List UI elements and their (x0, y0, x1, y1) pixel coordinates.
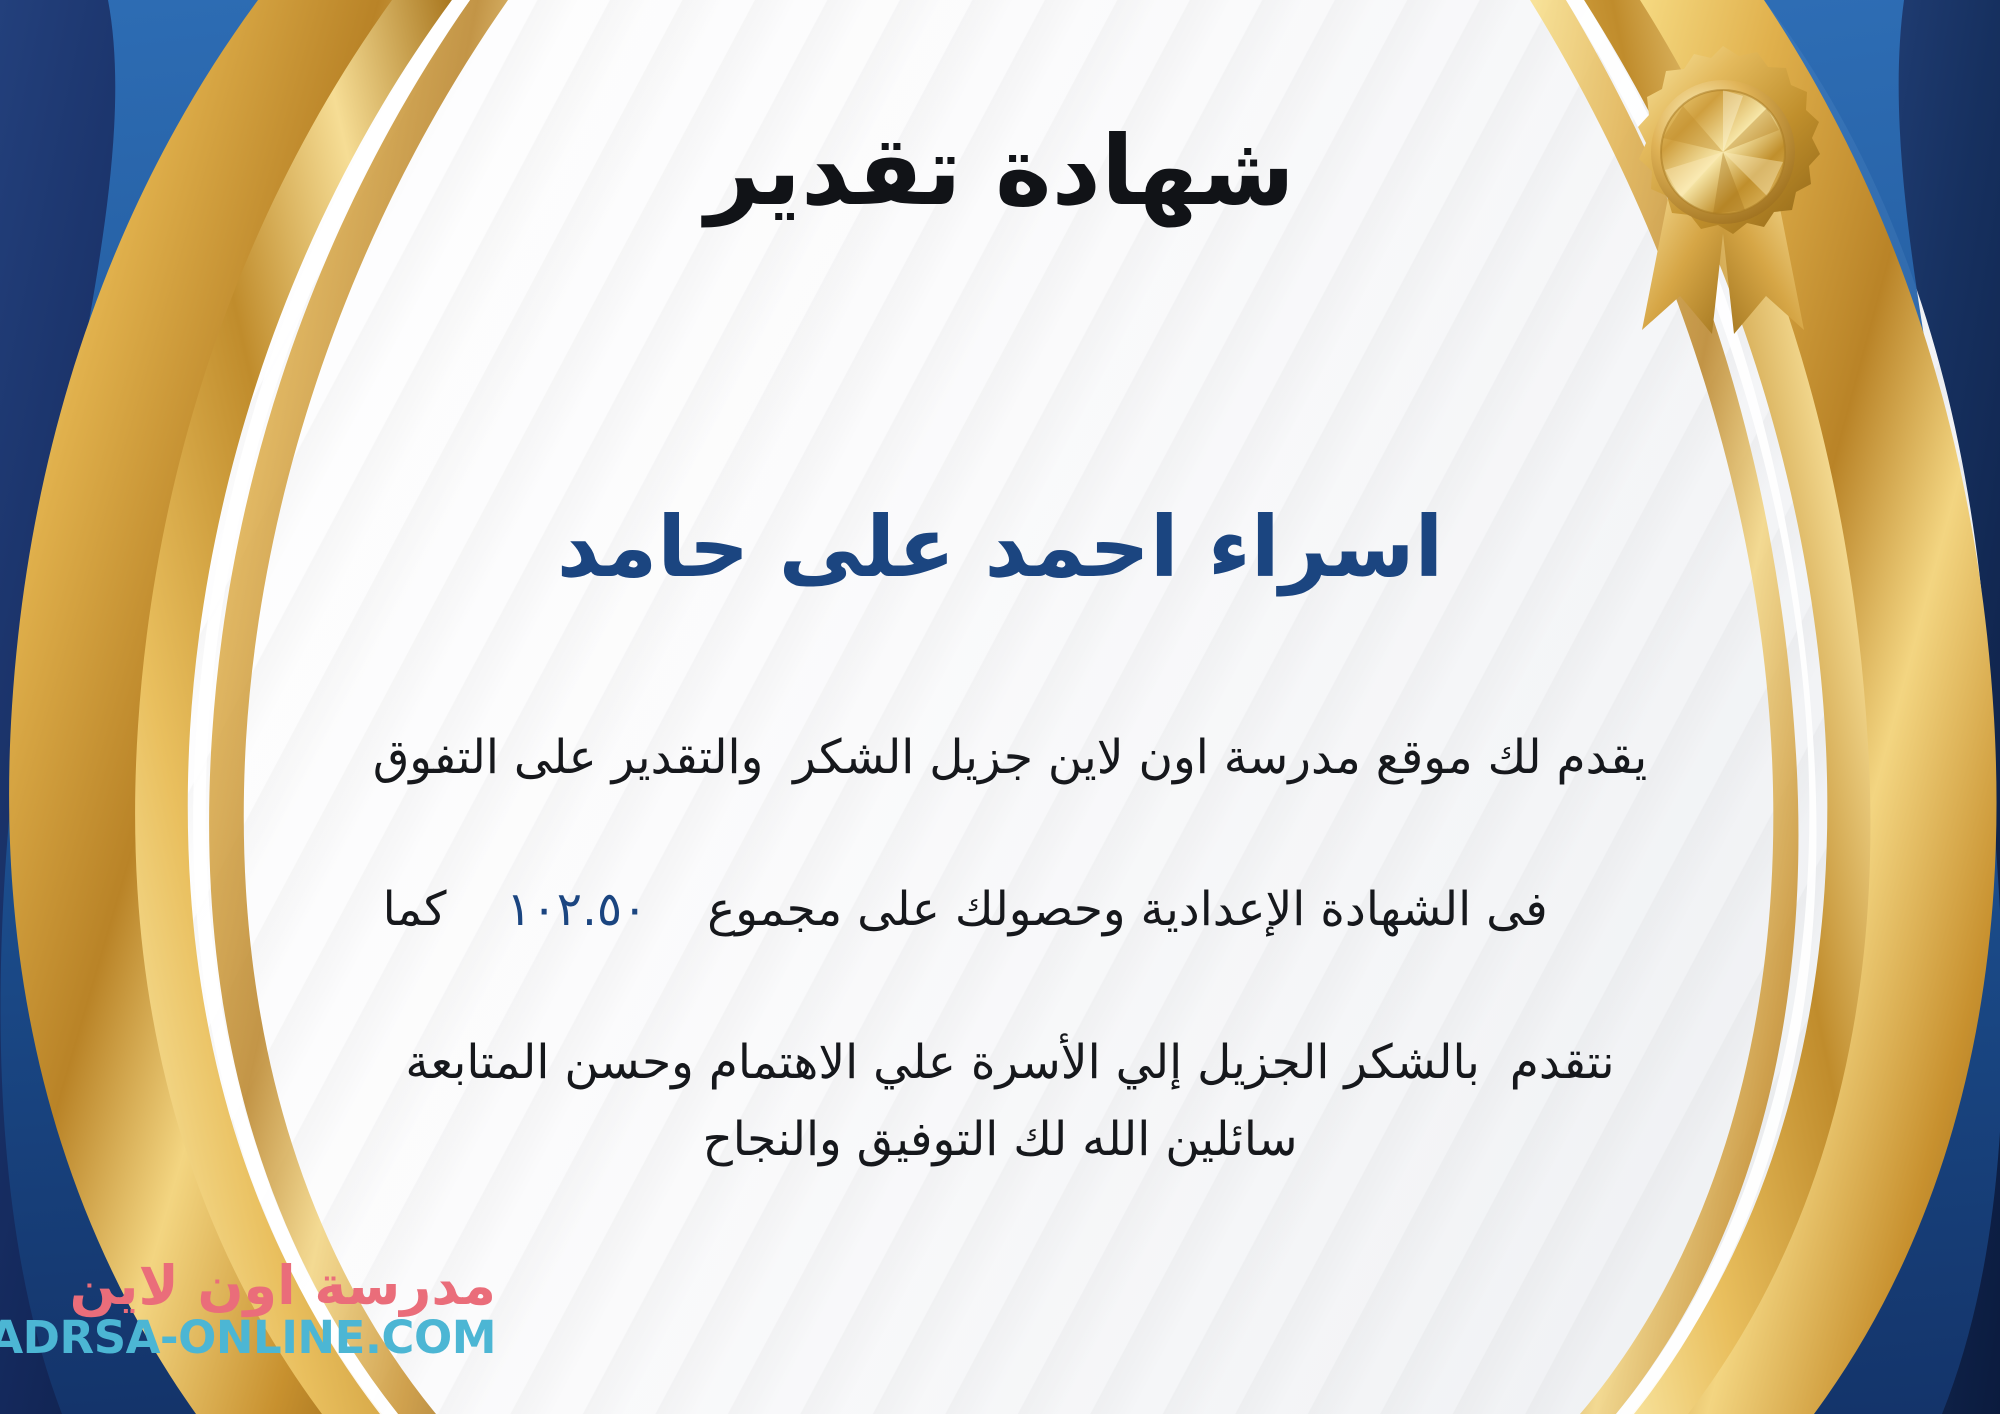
body-line-1: يقدم لك موقع مدرسة اون لاين جزيل الشكر و… (60, 720, 1960, 796)
body-line-2-prefix: فى الشهادة الإعدادية وحصولك على مجموع (707, 882, 1548, 937)
certificate-title: شهادة تقدير (0, 118, 2000, 226)
closing-wish: سائلين الله لك التوفيق والنجاح (0, 1105, 2000, 1176)
brand-logo: مدرسة اون لاين MADRSA-ONLINE.COM (26, 1258, 496, 1394)
student-name: اسراء احمد على حامد (0, 498, 2000, 597)
body-line-2: فى الشهادة الإعدادية وحصولك على مجموع ١٠… (60, 796, 1960, 1024)
brand-domain: MADRSA-ONLINE.COM (0, 1314, 496, 1362)
total-score-value: ١٠٢.٥٠ (506, 882, 647, 937)
brand-arabic-name: مدرسة اون لاين (70, 1258, 496, 1314)
certificate-body: يقدم لك موقع مدرسة اون لاين جزيل الشكر و… (60, 720, 1960, 1101)
certificate-canvas: شهادة تقدير اسراء احمد على حامد يقدم لك … (0, 0, 2000, 1414)
body-line-3: نتقدم بالشكر الجزيل إلي الأسرة علي الاهت… (60, 1025, 1960, 1101)
body-line-2-suffix: كما (383, 882, 447, 937)
